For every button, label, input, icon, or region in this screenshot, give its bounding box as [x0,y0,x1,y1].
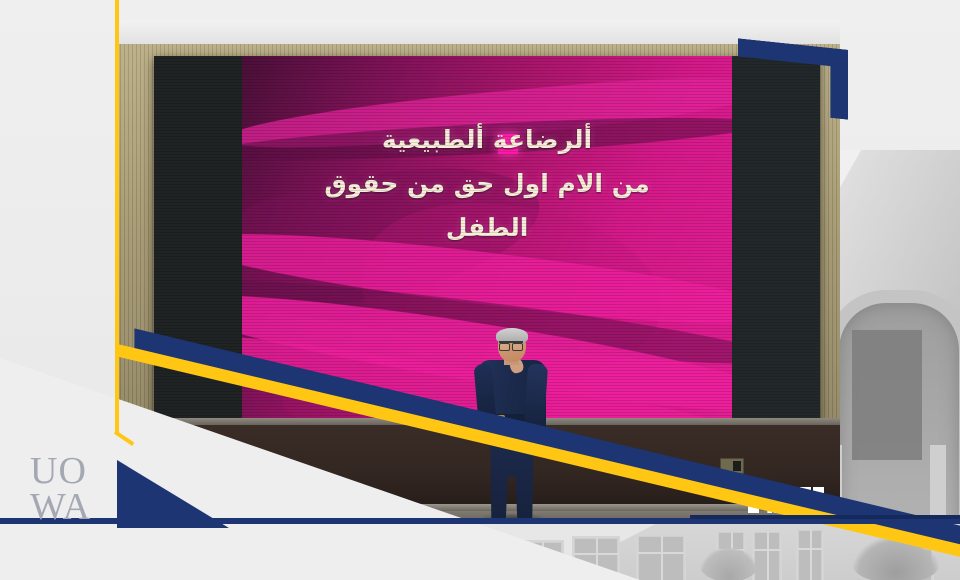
slide-title-line-2: من الام اول حق من حقوق [154,162,820,206]
slide-title-line-1: ألرضاعة ألطبيعية [154,118,820,162]
shrub [700,548,758,580]
navy-bottom-rule-secondary [690,515,960,519]
socket-outlet [733,461,741,471]
arch-inner-window [852,330,922,460]
facade-window [636,534,686,580]
uowa-logo-line-1: UO [30,452,114,490]
facade-window [752,530,782,580]
uowa-logo: UO WA [30,452,114,526]
facade-window [796,528,824,580]
yellow-vertical-line [115,0,119,434]
ceiling [116,20,840,44]
uowa-logo-line-2: WA [30,488,114,526]
eyeglasses-icon [499,341,523,349]
banner-canvas: ألرضاعة ألطبيعية من الام اول حق من حقوق … [0,0,960,580]
slide-title-line-3: الطفل [154,206,820,250]
slide-title-block: ألرضاعة ألطبيعية من الام اول حق من حقوق … [154,118,820,249]
